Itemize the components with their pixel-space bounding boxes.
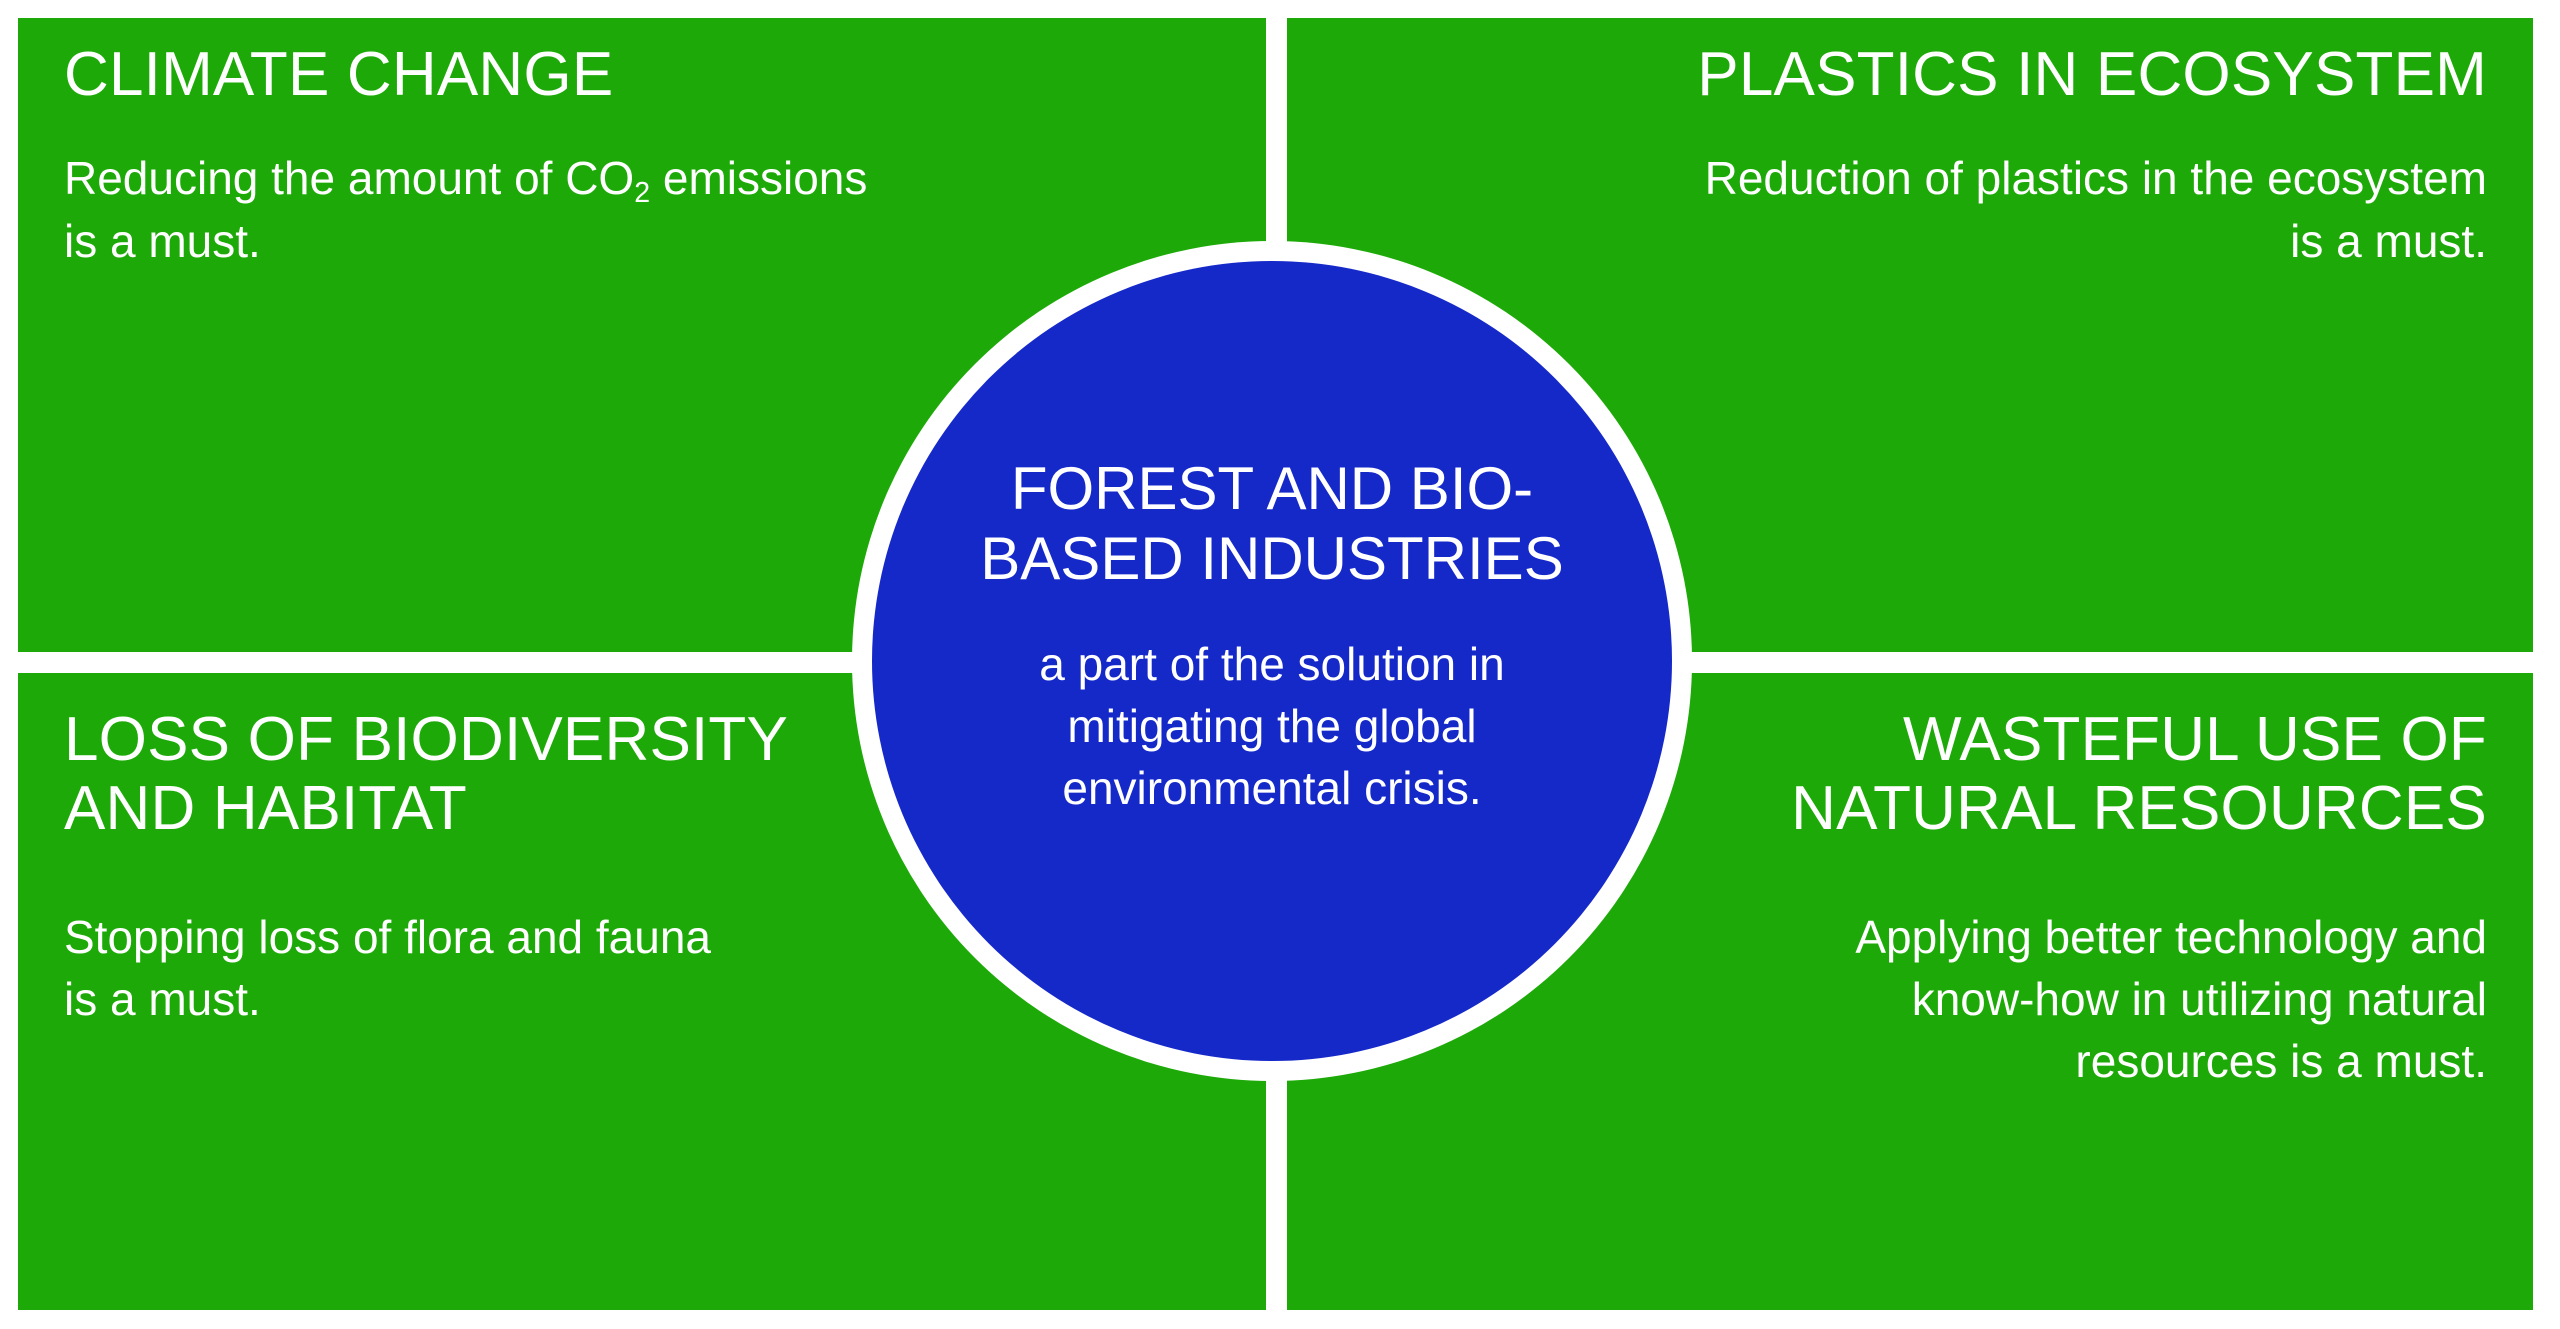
hub-subtitle: a part of the solution in mitigating the… bbox=[1039, 593, 1504, 819]
co2-subscript: 2 bbox=[634, 177, 650, 209]
diagram-canvas: CLIMATE CHANGE Reducing the amount of CO… bbox=[0, 0, 2560, 1329]
quadrant-text-block: PLASTICS IN ECOSYSTEM Reduction of plast… bbox=[1287, 40, 2533, 272]
hub-circle-forest-and-bio-based-industries: FOREST AND BIO- BASED INDUSTRIES a part … bbox=[872, 261, 1672, 1061]
quadrant-body-climate-change: Reducing the amount of CO2 emissions is … bbox=[64, 147, 1220, 271]
hub-title: FOREST AND BIO- BASED INDUSTRIES bbox=[980, 261, 1563, 593]
quadrant-body-plastics-in-ecosystem: Reduction of plastics in the ecosystem i… bbox=[1333, 147, 2487, 271]
quadrant-title-plastics-in-ecosystem: PLASTICS IN ECOSYSTEM bbox=[1333, 40, 2487, 109]
quadrant-title-climate-change: CLIMATE CHANGE bbox=[64, 40, 1220, 109]
body-text-prefix: Reducing the amount of CO bbox=[64, 152, 634, 204]
quadrant-text-block: CLIMATE CHANGE Reducing the amount of CO… bbox=[18, 40, 1266, 272]
